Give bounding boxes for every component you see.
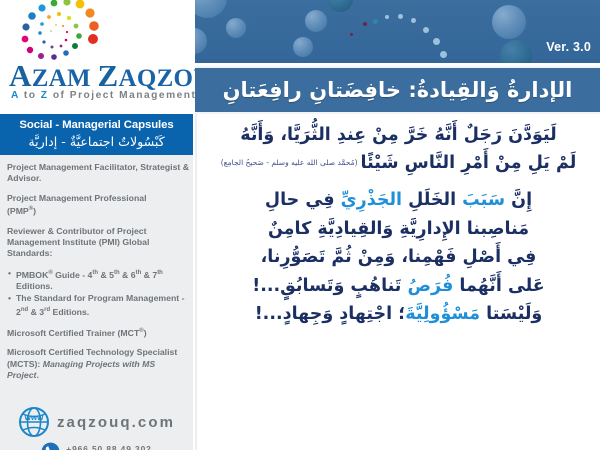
- logo-tagline: A to Z of Project Management: [11, 90, 195, 101]
- sidebar-header-ar: كَبْسُولاتٌ اجتماعيَّةٌ - إداريَّة: [0, 133, 193, 150]
- credential-item-pmp: Project Management Professional (PMP®): [7, 193, 189, 218]
- body-l4-part-a: عَلى أَنَّهُما: [453, 276, 544, 296]
- globe-www-icon: www: [18, 406, 50, 438]
- phone-number-1: +966 50 88 49 302: [66, 444, 151, 450]
- body-l4-part-b: تَناهُبٍ وَتَسابُقٍ...!: [252, 276, 407, 296]
- logo-letter-z: Z: [97, 58, 118, 93]
- body-line-3: فِي أَصْلِ فَهْمِنا، وَمِنْ ثُمَّ تَصَوُ…: [205, 243, 592, 272]
- highlight-masuliyyah: مَسْؤُولِيَّةَ: [405, 304, 480, 324]
- decorative-dot: [363, 22, 367, 26]
- credential-item-mct: Microsoft Certified Trainer (MCT®): [7, 326, 189, 339]
- page-title: الإدارةُ وَالقِيادةُ: خافِضَتانِ رافِعَت…: [223, 78, 573, 102]
- logo-text-aqzouq: AQZOUQ: [118, 65, 195, 92]
- website-row[interactable]: www zaqzouq.com: [0, 406, 193, 438]
- pmp-close: ): [33, 206, 36, 216]
- body-line-1: إِنَّ سَبَبَ الخَلَلِ الجَذْرِيِّ فِي حا…: [205, 186, 592, 215]
- logo-letter-a: A: [9, 58, 32, 93]
- decorative-bubble: [305, 10, 327, 32]
- sidebar-header: Social - Managerial Capsules كَبْسُولاتٌ…: [0, 114, 193, 155]
- logo-wordmark: AZAM ZAQZOUQ: [9, 58, 189, 94]
- tagline-to: to: [19, 90, 40, 101]
- decorative-bubble: [195, 0, 227, 18]
- highlight-jathri: الجَذْرِيِّ: [341, 190, 402, 210]
- body-line-5: وَلَيْسَتا مَسْؤُولِيَّةَ؛ اجْتِهادٍ وَج…: [205, 300, 592, 329]
- decorative-dot: [350, 33, 353, 36]
- version-label: Ver. 3.0: [546, 40, 591, 54]
- mcts-end: .: [36, 370, 38, 380]
- credential-item-facilitator: Project Management Facilitator, Strategi…: [7, 162, 189, 185]
- body-line-4: عَلى أَنَّهُما فُرَصُ تَناهُبٍ وَتَسابُق…: [205, 272, 592, 301]
- decorative-bubble: [226, 18, 246, 38]
- tagline-z: Z: [41, 90, 49, 101]
- highlight-sabab: سَبَبَ: [462, 190, 505, 210]
- pmbok-amp3: & 7: [141, 270, 157, 280]
- pmp-line1: Project Management Professional: [7, 193, 147, 203]
- decorative-dot: [440, 51, 447, 58]
- sidebar-header-en: Social - Managerial Capsules: [0, 118, 193, 133]
- phone-numbers: +966 50 88 49 302 +963 30 52 39 020: [66, 442, 151, 450]
- highlight-furas: فُرَصُ: [407, 276, 453, 296]
- hadith-quote: لَيَوَدَّنَ رَجَلٌ أَنَّهُ خَرَّ مِنْ عِ…: [205, 122, 592, 177]
- decorative-bubble: [293, 37, 313, 57]
- program-mid: & 3: [28, 307, 44, 317]
- quote-line-2: لَمْ يَلِ مِنْ أَمْرِ النَّاسِ شَيْئًا(م…: [205, 149, 592, 177]
- pmbok-label: PMBOK: [16, 270, 48, 280]
- body-line-2: مَناصِبنا الإِدارِيَّةِ وَالقِيادِيَّةِ …: [205, 215, 592, 244]
- pmbok-amp1: & 5: [98, 270, 114, 280]
- main-content: لَيَوَدَّنَ رَجَلٌ أَنَّهُ خَرَّ مِنْ عِ…: [197, 114, 600, 450]
- decorative-bubble: [327, 0, 353, 12]
- quote-line-2-text: لَمْ يَلِ مِنْ أَمْرِ النَّاسِ شَيْئًا: [361, 153, 577, 173]
- body-l5-part-b: ؛ اجْتِهادٍ وَجِهادٍ...!: [255, 304, 406, 324]
- dot-spiral-logo-icon: [8, 0, 128, 62]
- body-l1-part-c: فِي حالِ: [265, 190, 341, 210]
- website-url[interactable]: zaqzouq.com: [57, 414, 175, 431]
- body-l5-part-a: وَلَيْسَتا: [480, 304, 542, 324]
- phone-row: +966 50 88 49 302 +963 30 52 39 020: [0, 442, 193, 450]
- tagline-rest: of Project Management: [49, 90, 196, 101]
- body-paragraph: إِنَّ سَبَبَ الخَلَلِ الجَذْرِيِّ فِي حا…: [205, 186, 592, 329]
- body-l1-part-b: الخَلَلِ: [402, 190, 462, 210]
- decorative-dot: [411, 18, 416, 23]
- pmp-line2: (PMP: [7, 206, 29, 216]
- decorative-dot: [385, 15, 389, 19]
- bullet-pmbok-guide: PMBOK® Guide - 4th & 5th & 6th & 7th Edi…: [16, 268, 189, 293]
- decorative-dot: [433, 38, 440, 45]
- pmbok-amp2: & 6: [120, 270, 136, 280]
- mct-close: ): [144, 328, 147, 338]
- pmbok-end: Editions.: [16, 281, 53, 291]
- ordinal-sup: th: [157, 270, 163, 276]
- sidebar: Social - Managerial Capsules كَبْسُولاتٌ…: [0, 114, 195, 450]
- decorative-bubble: [500, 40, 532, 63]
- logo-text-zam: ZAM: [32, 65, 91, 92]
- mct-label: Microsoft Certified Trainer (MCT: [7, 328, 139, 338]
- body-l1-part-a: إِنَّ: [505, 190, 532, 210]
- credentials-list: Project Management Facilitator, Strategi…: [7, 162, 189, 390]
- credential-item-mcts: Microsoft Certified Technology Specialis…: [7, 347, 189, 381]
- pmi-intro: Reviewer & Contributor of Project Manage…: [7, 226, 149, 259]
- slide-canvas: AZAM ZAQZOUQ A to Z of Project Managemen…: [0, 0, 600, 450]
- www-glyph: www: [24, 413, 44, 422]
- decorative-dot: [423, 27, 429, 33]
- bullet-program-standard: The Standard for Program Management - 2n…: [16, 293, 189, 318]
- pmbok-mid: Guide - 4: [53, 270, 93, 280]
- decorative-bubble: [492, 5, 526, 39]
- standards-bullet-list: PMBOK® Guide - 4th & 5th & 6th & 7th Edi…: [7, 268, 189, 318]
- logo-block: AZAM ZAQZOUQ A to Z of Project Managemen…: [0, 0, 195, 114]
- slide-title-bar: الإدارةُ وَالقِيادةُ: خافِضَتانِ رافِعَت…: [195, 66, 600, 114]
- decorative-bubble: [195, 28, 207, 54]
- credential-item-pmi-reviewer: Reviewer & Contributor of Project Manage…: [7, 226, 189, 260]
- phone-icon: [41, 442, 60, 450]
- decorative-dot: [398, 14, 403, 19]
- quote-line-1: لَيَوَدَّنَ رَجَلٌ أَنَّهُ خَرَّ مِنْ عِ…: [205, 122, 592, 149]
- header-banner: Ver. 3.0: [195, 0, 600, 63]
- program-end: Editions.: [50, 307, 89, 317]
- quote-attribution: (مُحمَّد صلى الله عليه وسلم - صَحيحُ الج…: [221, 158, 361, 167]
- decorative-dot: [373, 19, 378, 24]
